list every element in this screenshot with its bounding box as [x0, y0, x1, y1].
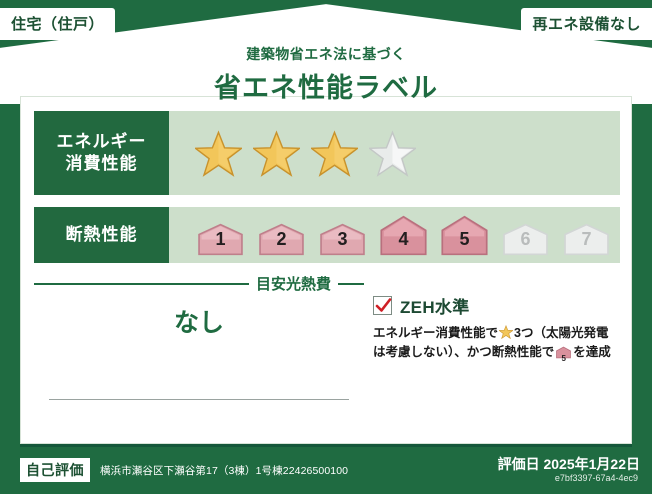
- zeh-title: ZEH水準: [400, 293, 470, 318]
- house-grade-value: 3: [315, 229, 370, 250]
- property-address: 横浜市瀬谷区下瀬谷第17（3棟）1号棟22426500100: [100, 463, 348, 478]
- house-icon-inline-value: 5: [556, 353, 571, 365]
- star-rating: [169, 130, 416, 177]
- utility-cost-underline: [49, 399, 349, 400]
- insulation-grade-scale: 1 2 3: [169, 215, 614, 256]
- evaluation-date-value: 2025年1月22日: [543, 456, 640, 472]
- house-icon-grade-6: 6: [498, 223, 553, 256]
- house-grade-value: 7: [559, 229, 614, 250]
- energy-performance-label-line2: 消費性能: [66, 153, 138, 175]
- checkbox-checked[interactable]: [373, 296, 392, 315]
- evaluation-date-label: 評価日: [498, 456, 540, 472]
- badge-building-type: 住宅（住戸）: [0, 8, 115, 40]
- self-evaluation-badge: 自己評価: [20, 458, 90, 482]
- insulation-performance-body: 1 2 3: [169, 207, 620, 263]
- star-icon-empty: [369, 130, 416, 177]
- zeh-description: エネルギー消費性能で 3つ（太陽光発電 は考慮しない）、かつ断熱性能で 5 を達…: [373, 324, 621, 366]
- house-icon-grade-2: 2: [254, 223, 309, 256]
- page-title: 建築物省エネ法に基づく 省エネ性能ラベル: [0, 44, 652, 105]
- star-icon-inline: [499, 325, 513, 339]
- zeh-desc-part1: エネルギー消費性能で: [373, 326, 498, 340]
- zeh-heading: ZEH水準: [373, 293, 621, 318]
- utility-cost-heading-text: 目安光熱費: [256, 273, 331, 294]
- zeh-desc-part2: は考慮しない）、かつ断熱性能で: [373, 345, 554, 359]
- star-icon-filled: [195, 130, 242, 177]
- footer: 自己評価 横浜市瀬谷区下瀬谷第17（3棟）1号棟22426500100 評価日 …: [0, 444, 652, 494]
- house-grade-value: 1: [193, 229, 248, 250]
- badge-renewable-energy: 再エネ設備なし: [521, 8, 652, 40]
- insulation-performance-label: 断熱性能: [34, 207, 169, 263]
- house-grade-value: 4: [376, 229, 431, 250]
- energy-performance-row: エネルギー 消費性能: [34, 111, 620, 195]
- insulation-performance-row: 断熱性能 1 2: [34, 207, 620, 263]
- zeh-desc-star-count: 3つ（太陽光発電: [514, 326, 608, 340]
- zeh-desc-part3: を達成: [573, 345, 611, 359]
- divider-right: [338, 283, 364, 285]
- star-icon-filled: [253, 130, 300, 177]
- energy-performance-body: [169, 111, 620, 195]
- utility-cost-heading: 目安光熱費: [34, 273, 364, 294]
- zeh-block: ZEH水準 エネルギー消費性能で 3つ（太陽光発電 は考慮しない）、かつ断熱性能…: [373, 293, 621, 366]
- label-card: エネルギー 消費性能: [20, 96, 632, 444]
- house-grade-value: 5: [437, 229, 492, 250]
- divider-left: [34, 283, 249, 285]
- house-icon-grade-1: 1: [193, 223, 248, 256]
- star-icon-filled: [311, 130, 358, 177]
- evaluation-id: e7bf3397-67a4-4ec9: [555, 473, 638, 483]
- evaluation-date: 評価日 2025年1月22日: [498, 454, 640, 474]
- house-grade-value: 2: [254, 229, 309, 250]
- page-title-main: 省エネ性能ラベル: [0, 66, 652, 105]
- check-icon: [375, 297, 392, 314]
- house-icon-grade-5: 5: [437, 215, 492, 256]
- house-icon-grade-4: 4: [376, 215, 431, 256]
- house-icon-grade-7: 7: [559, 223, 614, 256]
- house-icon-inline: 5: [556, 346, 571, 365]
- page-title-sub: 建築物省エネ法に基づく: [0, 44, 652, 64]
- house-icon-grade-3: 3: [315, 223, 370, 256]
- house-grade-value: 6: [498, 229, 553, 250]
- energy-performance-label-line1: エネルギー: [57, 131, 147, 153]
- footer-divider: [20, 444, 632, 447]
- utility-cost-value: なし: [34, 303, 364, 339]
- energy-performance-label: エネルギー 消費性能: [34, 111, 169, 195]
